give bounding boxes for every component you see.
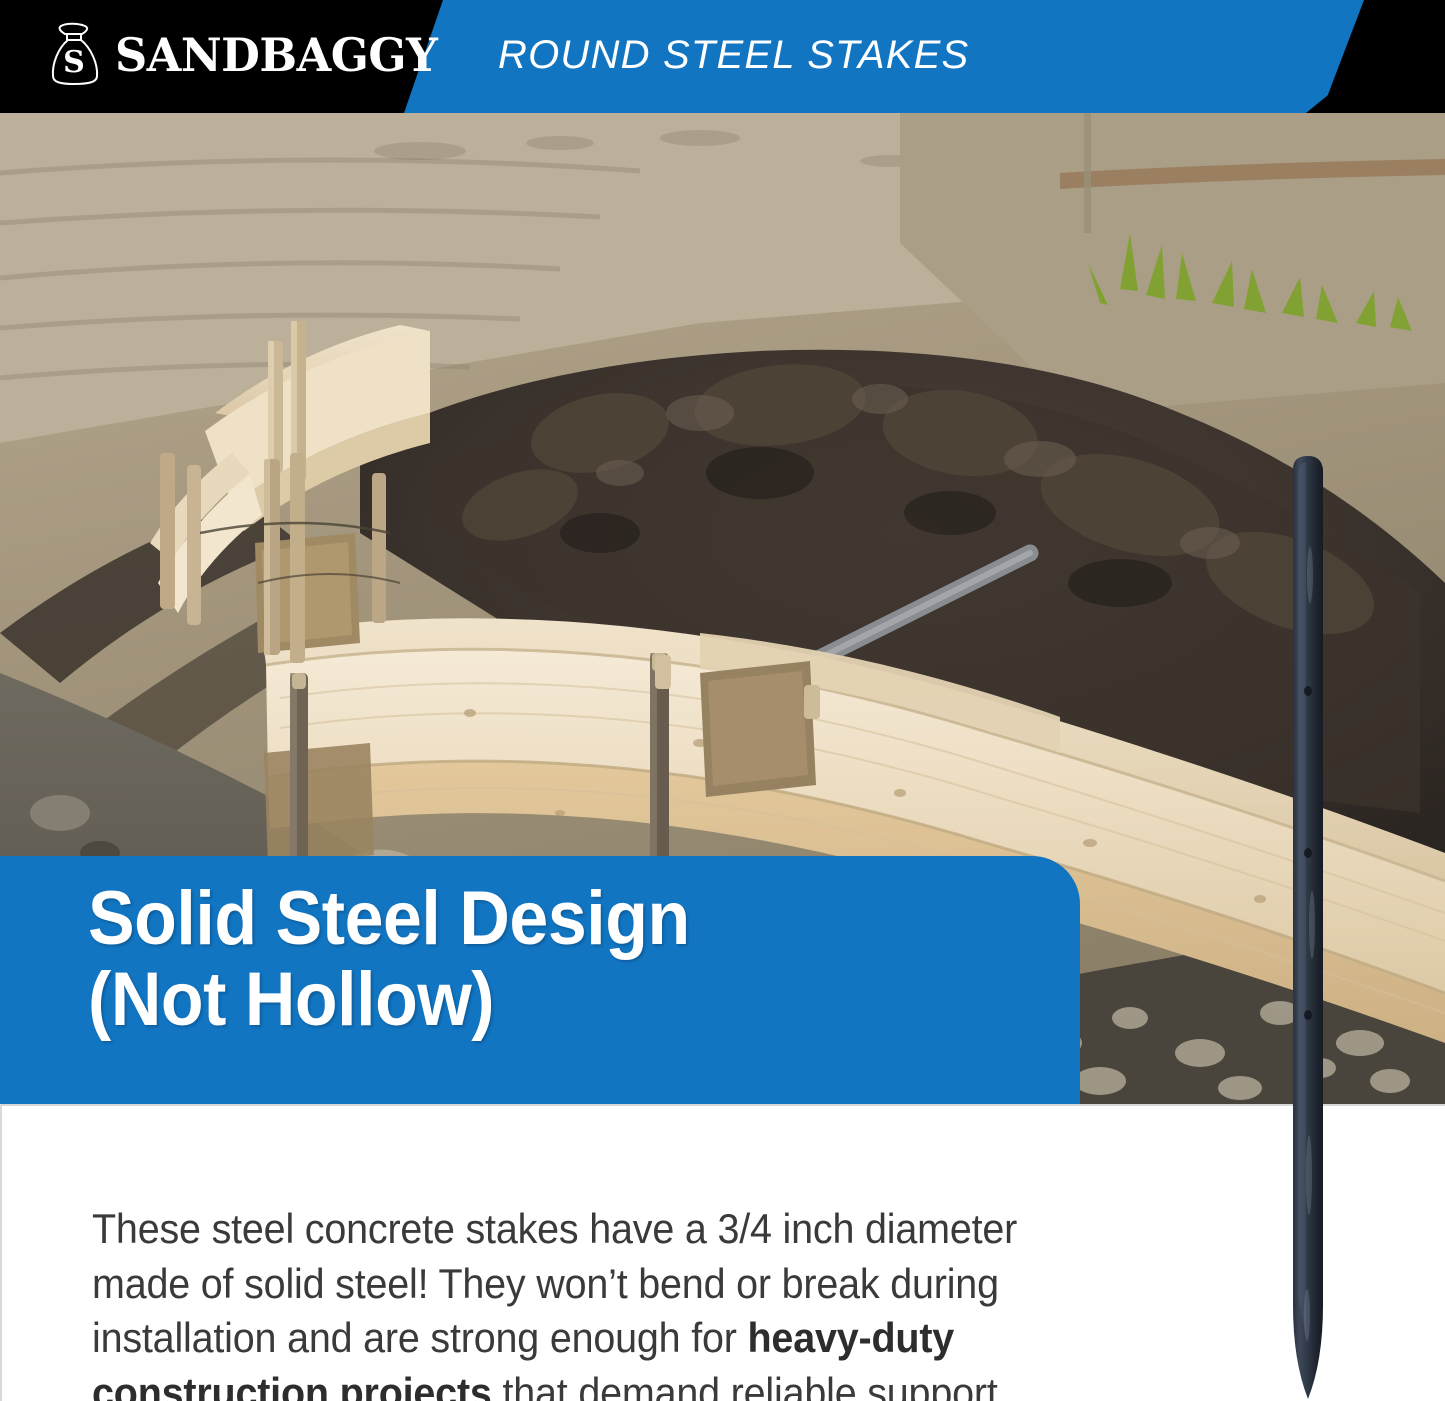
headline-line-2: (Not Hollow): [88, 959, 971, 1040]
headline-line-1: Solid Steel Design: [88, 878, 971, 959]
header-bar: S SANDBAGGY ROUND STEEL STAKES: [0, 0, 1445, 113]
headline-panel: Solid Steel Design (Not Hollow): [0, 856, 1080, 1104]
infographic-root: S SANDBAGGY ROUND STEEL STAKES: [0, 0, 1445, 1401]
headline-text: Solid Steel Design (Not Hollow): [88, 878, 971, 1041]
brand-name: SANDBAGGY: [115, 32, 437, 78]
description-text: These steel concrete stakes have a 3/4 i…: [92, 1202, 1070, 1401]
header-title: ROUND STEEL STAKES: [498, 33, 969, 78]
round-steel-stake-image: [1283, 455, 1349, 1401]
sandbag-icon: S: [48, 22, 102, 88]
description-part-2: that demand reliable support.: [492, 1369, 1009, 1401]
steel-stake-illustration: [1283, 455, 1349, 1401]
brand-logo[interactable]: S SANDBAGGY: [48, 22, 447, 88]
description-section: These steel concrete stakes have a 3/4 i…: [0, 1104, 1445, 1401]
svg-text:S: S: [63, 45, 85, 80]
